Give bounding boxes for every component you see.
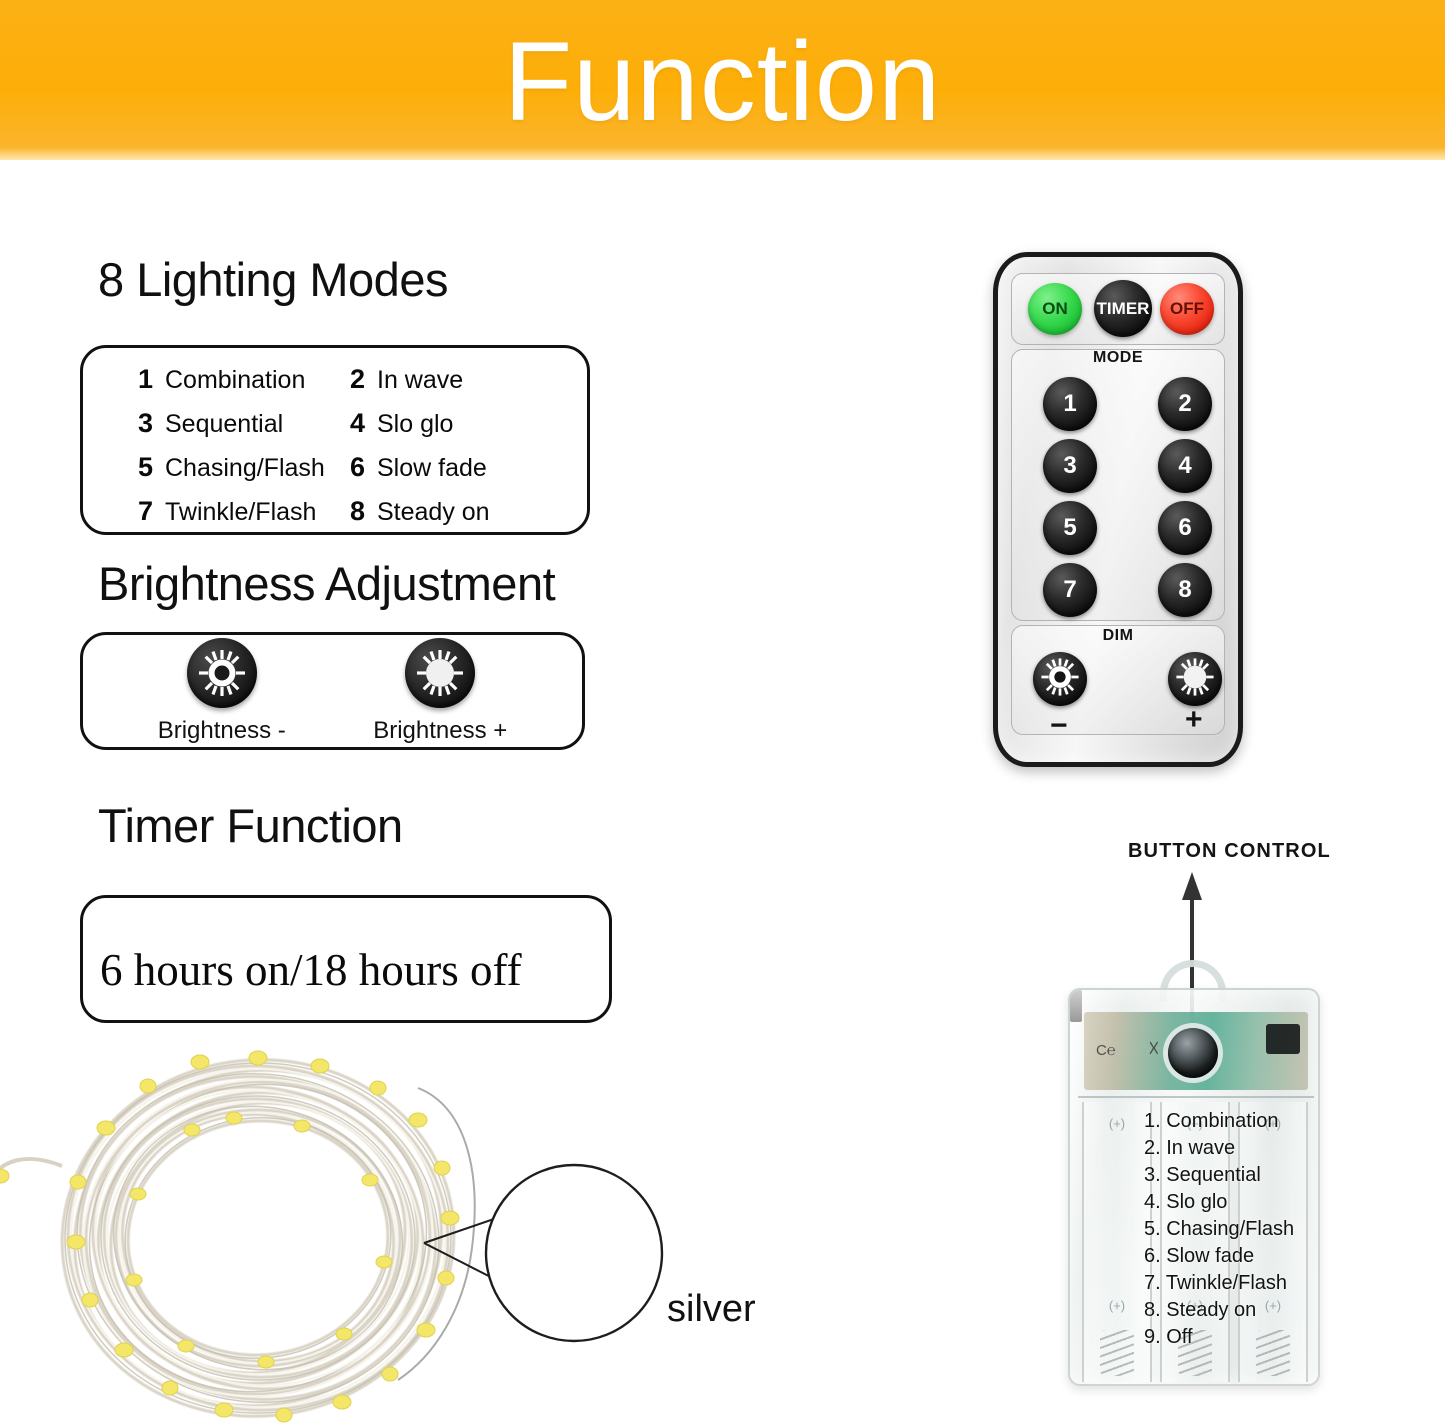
brightness-minus-item: Brightness - [158,638,286,745]
brightness-plus-label: Brightness + [373,717,507,745]
sun-bright-icon [1174,656,1216,703]
remote-mode-button-1[interactable]: 1 [1043,377,1097,431]
remote-mode-button-2[interactable]: 2 [1158,377,1212,431]
remote-mode-button-8[interactable]: 8 [1158,563,1212,617]
battery-spring [1100,1330,1134,1376]
remote-mode-button-5[interactable]: 5 [1043,501,1097,555]
battery-box-mode-list: 1. Combination 2. In wave 3. Sequential … [1144,1108,1294,1351]
battery-compartment-divider [1078,1096,1314,1098]
mode-label: Steady on [377,498,490,527]
battery-mode-item: 1. Combination [1144,1108,1294,1135]
wire-coil [0,1036,475,1426]
mode-label: Slo glo [377,410,453,439]
battery-mode-item: 8. Steady on [1144,1297,1294,1324]
mode-number: 4 [350,408,366,439]
mode-list-item: 7 Twinkle/Flash [138,496,350,527]
weee-bin-icon: ☓ [1148,1036,1160,1062]
silver-label: silver [667,1288,756,1331]
mode-list-item: 4 Slo glo [350,408,590,439]
mode-list-item: 1 Combination [138,364,350,395]
battery-mode-item: 3. Sequential [1144,1162,1294,1189]
brightness-heading: Brightness Adjustment [98,556,555,611]
mode-number: 1 [138,364,154,395]
mode-number: 7 [138,496,154,527]
mode-label: Twinkle/Flash [165,498,316,527]
sun-dim-icon [187,638,257,708]
mode-list-item: 5 Chasing/Flash [138,452,350,483]
remote-mode-button-7[interactable]: 7 [1043,563,1097,617]
remote-timer-button[interactable]: TIMER [1094,280,1152,337]
mode-list-item: 3 Sequential [138,408,350,439]
mode-list-item: 2 In wave [350,364,590,395]
remote-control[interactable]: ON TIMER OFF MODE 1 2 3 4 5 6 7 8 DIM [993,252,1243,767]
mode-label: Slow fade [377,454,487,483]
page-title: Function [504,26,942,138]
battery-mode-item: 2. In wave [1144,1135,1294,1162]
remote-dim-down-button[interactable] [1033,652,1087,706]
battery-mode-item: 6. Slow fade [1144,1243,1294,1270]
mode-label: In wave [377,366,463,395]
brightness-minus-label: Brightness - [158,717,286,745]
mode-label: Sequential [165,410,283,439]
battery-mode-item: 9. Off [1144,1324,1294,1351]
timer-heading: Timer Function [98,798,403,853]
mode-label: Chasing/Flash [165,454,325,483]
mode-number: 6 [350,452,366,483]
sun-dim-icon [1039,656,1081,703]
capacitor-component [1070,990,1082,1022]
mode-list-item: 6 Slow fade [350,452,590,483]
polarity-mark: (+) [1109,1298,1125,1313]
battery-box: C℮ ☓ (+) (+) (+) (+) (+) (+) 1. Combinat… [1068,988,1320,1386]
brightness-plus-item: Brightness + [373,638,507,745]
modes-heading: 8 Lighting Modes [98,252,448,307]
mode-number: 2 [350,364,366,395]
remote-mode-button-4[interactable]: 4 [1158,439,1212,493]
mode-number: 8 [350,496,366,527]
mode-label: Combination [165,366,305,395]
battery-mode-item: 4. Slo glo [1144,1189,1294,1216]
remote-mode-label: MODE [998,349,1238,367]
mode-number: 5 [138,452,154,483]
ce-mark: C℮ [1096,1042,1116,1059]
sun-bright-icon [405,638,475,708]
remote-dim-label: DIM [998,627,1238,645]
magnifier-leader [424,1210,520,1292]
battery-mode-item: 5. Chasing/Flash [1144,1216,1294,1243]
timer-value: 6 hours on/18 hours off [100,920,600,1020]
remote-dim-up-button[interactable] [1168,652,1222,706]
remote-mode-button-6[interactable]: 6 [1158,501,1212,555]
battery-mode-item: 7. Twinkle/Flash [1144,1270,1294,1297]
remote-mode-button-3[interactable]: 3 [1043,439,1097,493]
magnifier-detail [486,1165,664,1352]
button-control-label: BUTTON CONTROL [1128,840,1331,863]
battery-cell-slot: (+) (+) [1082,1102,1152,1382]
brightness-row: Brightness - [80,632,585,750]
mode-list-item: 8 Steady on [350,496,590,527]
dim-minus-sign: − [1050,709,1068,743]
remote-on-button[interactable]: ON [1028,283,1082,335]
mode-number: 3 [138,408,154,439]
product-infographic: Function 8 Lighting Modes 1 Combination … [0,0,1445,1426]
chip-component [1266,1024,1300,1054]
modes-list: 1 Combination 2 In wave 3 Sequential 4 S… [80,345,590,535]
remote-off-button[interactable]: OFF [1160,283,1214,335]
battery-box-push-button[interactable] [1168,1028,1218,1078]
polarity-mark: (+) [1109,1116,1125,1131]
dim-plus-sign: + [1185,703,1203,737]
header-banner: Function [0,0,1445,160]
